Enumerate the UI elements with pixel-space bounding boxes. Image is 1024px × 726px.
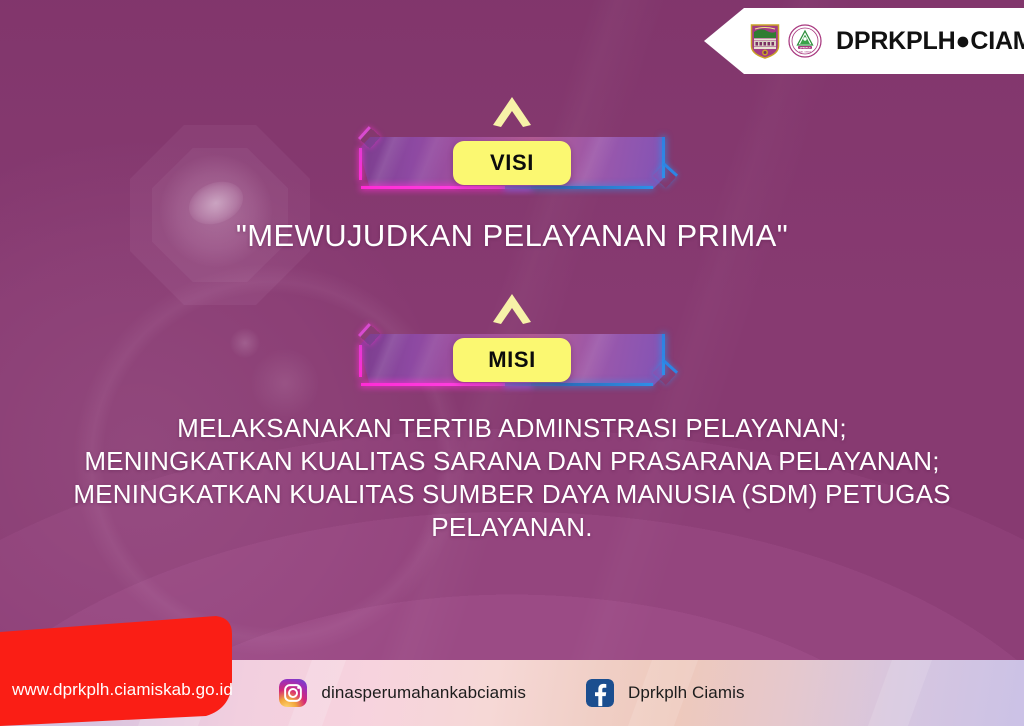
visi-statement: "MEWUJUDKAN PELAYANAN PRIMA" [0,218,1024,254]
visi-ribbon: VISI [359,137,665,189]
website-url: www.dprkplh.ciamiskab.go.id [12,680,233,700]
svg-text:DPRKPLH: DPRKPLH [800,47,811,49]
misi-line: MENINGKATKAN KUALITAS SUMBER DAYA MANUSI… [0,478,1024,544]
misi-statement-list: MELAKSANAKAN TERTIB ADMINSTRASI PELAYANA… [0,412,1024,544]
instagram-handle: dinasperumahankabciamis [321,683,526,703]
dprkplh-circular-logo: DPRKPLH KAB. CIAMIS [788,24,822,58]
facebook-social-item[interactable]: Dprkplh Ciamis [586,679,745,707]
misi-tag-label: MISI [488,347,536,373]
misi-line: MELAKSANAKAN TERTIB ADMINSTRASI PELAYANA… [0,412,1024,445]
chevron-up-icon [491,95,533,129]
header-banner: DPRKPLH KAB. CIAMIS DPRKPLH●CIAMIS [704,8,1024,74]
facebook-icon[interactable] [586,679,614,707]
facebook-handle: Dprkplh Ciamis [628,683,745,703]
visi-tag-pill: VISI [453,141,571,185]
website-tag[interactable] [0,616,232,726]
poster-canvas: DPRKPLH KAB. CIAMIS DPRKPLH●CIAMIS VISI … [0,0,1024,726]
misi-tag-pill: MISI [453,338,571,382]
chevron-up-icon [491,292,533,326]
misi-ribbon: MISI [359,334,665,386]
ciamis-regency-shield-logo [750,23,780,59]
instagram-social-item[interactable]: dinasperumahankabciamis [279,679,526,707]
misi-section: MISI [0,292,1024,386]
instagram-icon[interactable] [279,679,307,707]
header-title: DPRKPLH●CIAMIS [836,27,1024,56]
misi-line: MENINGKATKAN KUALITAS SARANA DAN PRASARA… [0,445,1024,478]
visi-section: VISI [0,95,1024,189]
visi-tag-label: VISI [490,150,534,176]
